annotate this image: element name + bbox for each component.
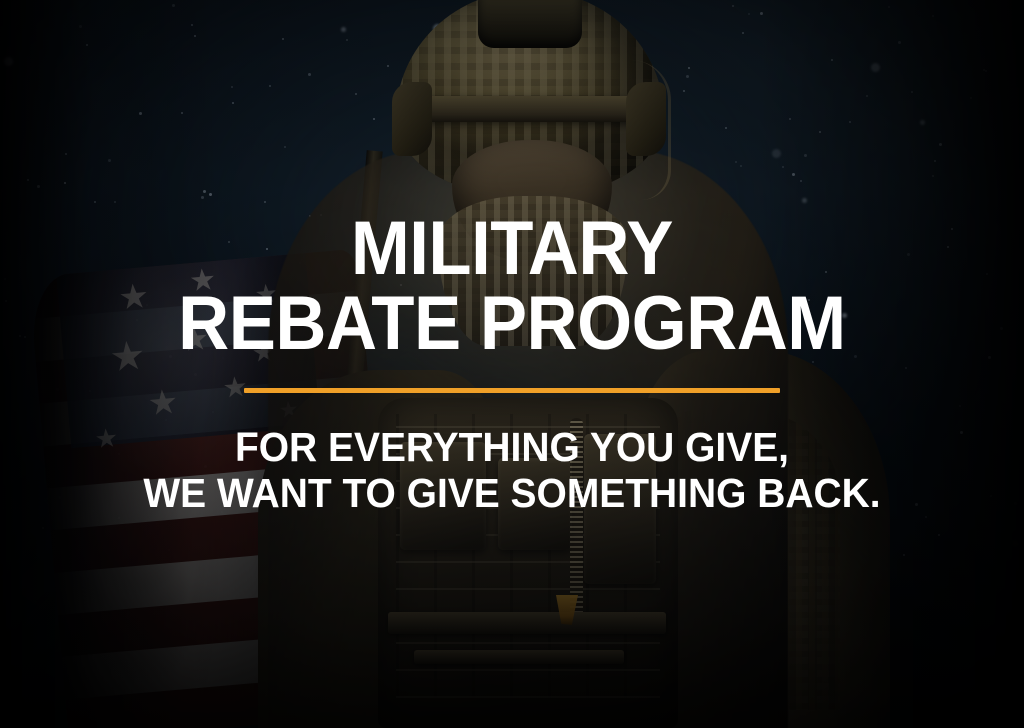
- subheadline-line-1: FOR EVERYTHING YOU GIVE,: [143, 425, 880, 471]
- banner-content: MILITARY REBATE PROGRAM FOR EVERYTHING Y…: [0, 0, 1024, 728]
- military-rebate-banner: ★★★★★★★★★★: [0, 0, 1024, 728]
- page-title: MILITARY REBATE PROGRAM: [167, 211, 857, 361]
- headline-line-2: REBATE PROGRAM: [178, 286, 846, 361]
- subheadline-line-2: WE WANT TO GIVE SOMETHING BACK.: [143, 471, 880, 517]
- headline-line-1: MILITARY: [178, 211, 846, 286]
- accent-divider: [244, 388, 780, 393]
- page-subtitle: FOR EVERYTHING YOU GIVE, WE WANT TO GIVE…: [143, 425, 880, 517]
